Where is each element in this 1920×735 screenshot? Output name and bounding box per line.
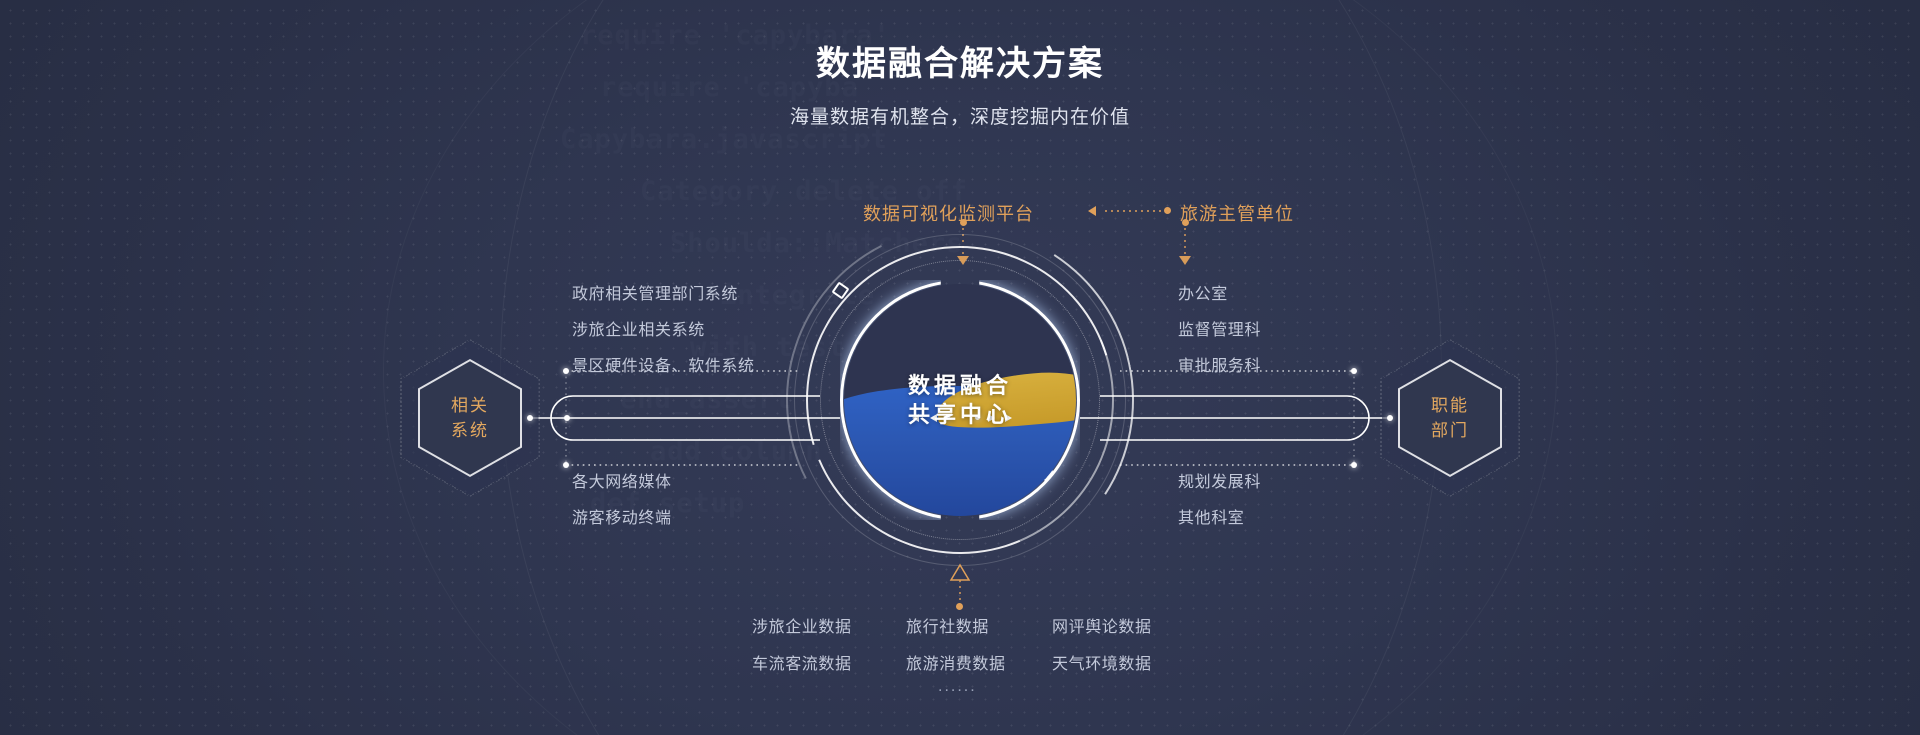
- connector-dot: [564, 415, 570, 421]
- core-label-line1: 数据融合: [908, 371, 1012, 400]
- origin-dot: [1164, 207, 1171, 214]
- hex-right-line2: 部门: [1431, 418, 1469, 444]
- top-node-label-authority[interactable]: 旅游主管单位: [1180, 200, 1294, 226]
- header: 数据融合解决方案 海量数据有机整合，深度挖掘内在价值: [0, 0, 1920, 129]
- core-label: 数据融合 共享中心: [800, 240, 1120, 560]
- left-label-1: 涉旅企业相关系统: [572, 316, 705, 340]
- bottom-origin-dot: [956, 603, 963, 610]
- drop-origin-dot: [960, 219, 967, 226]
- bottom-label-r2-c0: 车流客流数据: [752, 650, 852, 674]
- hex-left-line1: 相关: [451, 393, 489, 419]
- bottom-label-more: ......: [938, 678, 977, 696]
- top-node-label-visualization[interactable]: 数据可视化监测平台: [863, 200, 1034, 226]
- bottom-label-r1-c2: 网评舆论数据: [1052, 613, 1152, 637]
- hex-node-functional-departments[interactable]: 职能 部门: [1398, 359, 1502, 477]
- connector-dot: [563, 368, 569, 374]
- left-lower-label-1: 游客移动终端: [572, 504, 672, 528]
- connector-dot: [1351, 368, 1357, 374]
- page-title: 数据融合解决方案: [0, 36, 1920, 85]
- connector-dot: [527, 415, 533, 421]
- hex-left-line2: 系统: [451, 418, 489, 444]
- hex-right-label: 职能 部门: [1431, 393, 1469, 444]
- core-label-line2: 共享中心: [908, 400, 1012, 429]
- bottom-label-r2-c2: 天气环境数据: [1052, 650, 1152, 674]
- arrow-left-icon: [1088, 206, 1096, 216]
- bottom-label-r1-c1: 旅行社数据: [906, 613, 989, 637]
- arrow-down-icon: [1179, 256, 1191, 265]
- connector-dot: [563, 462, 569, 468]
- arrow-up-icon-spacer: [952, 565, 968, 577]
- bottom-label-r1-c0: 涉旅企业数据: [752, 613, 852, 637]
- hex-left-label: 相关 系统: [451, 393, 489, 444]
- left-lower-label-0: 各大网络媒体: [572, 468, 672, 492]
- right-label-2: 审批服务科: [1178, 352, 1261, 376]
- drop-origin-dot: [1182, 219, 1189, 226]
- right-lower-label-0: 规划发展科: [1178, 468, 1261, 492]
- core-hub-graphic: 数据融合 共享中心: [800, 240, 1120, 560]
- bottom-label-r2-c1: 旅游消费数据: [906, 650, 1006, 674]
- right-label-1: 监督管理科: [1178, 316, 1261, 340]
- right-lower-label-1: 其他科室: [1178, 504, 1244, 528]
- right-label-0: 办公室: [1178, 280, 1228, 304]
- infographic-canvas: require 'capybara' require 'capyba Capyb…: [0, 0, 1920, 735]
- left-label-0: 政府相关管理部门系统: [572, 280, 738, 304]
- connector-dot: [1351, 462, 1357, 468]
- page-subtitle: 海量数据有机整合，深度挖掘内在价值: [0, 102, 1920, 129]
- left-label-2: 景区硬件设备、软件系统: [572, 352, 755, 376]
- hex-right-line1: 职能: [1431, 393, 1469, 419]
- connector-dot: [1387, 415, 1393, 421]
- hex-node-related-systems[interactable]: 相关 系统: [418, 359, 522, 477]
